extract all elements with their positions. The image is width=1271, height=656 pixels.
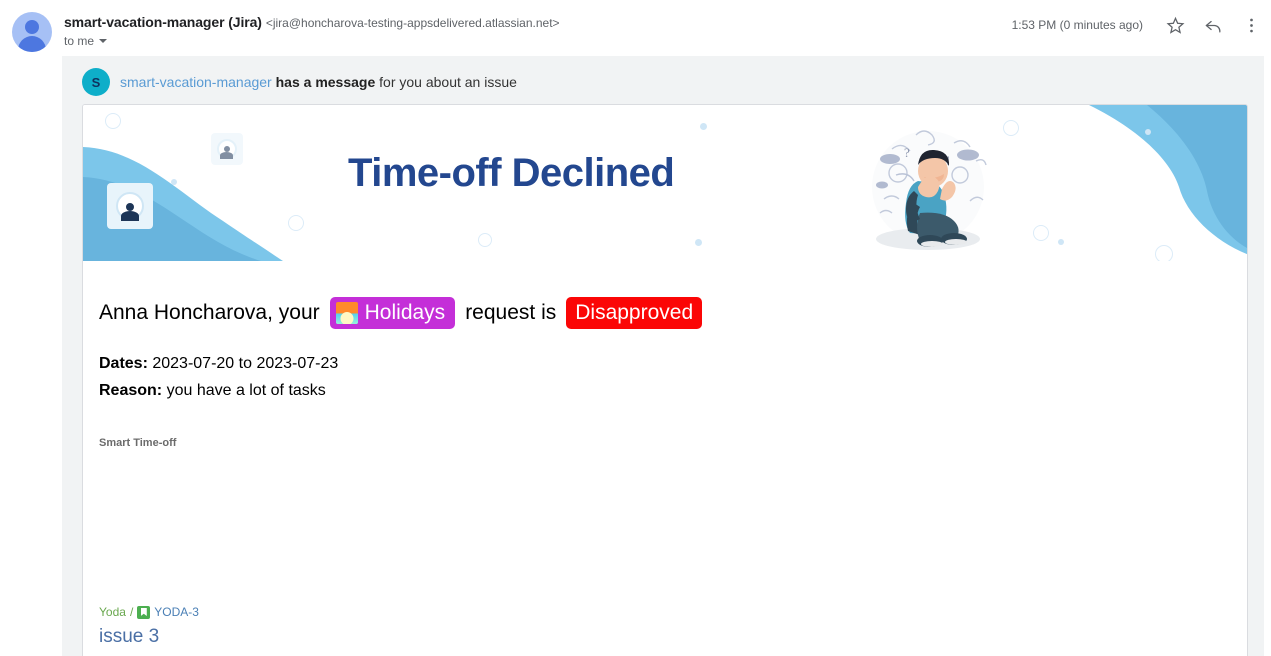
status-badge-label: Disapproved	[575, 301, 693, 325]
dates-label: Dates:	[99, 355, 148, 372]
calendar-clock-icon	[107, 183, 153, 229]
dot-decoration	[695, 239, 702, 246]
message-timestamp: 1:53 PM (0 minutes ago)	[1012, 18, 1143, 32]
reason-row: Reason: you have a lot of tasks	[99, 382, 326, 400]
recipient-label: to me	[64, 34, 94, 48]
jira-app-avatar: S	[82, 68, 110, 96]
email-banner: ?!	[83, 105, 1248, 261]
svg-text:?: ?	[904, 145, 910, 160]
banner-title: Time-off Declined	[348, 151, 674, 196]
greeting-text: Anna Honcharova, your	[99, 301, 320, 325]
wave-right-decoration	[1029, 105, 1248, 261]
jira-notice: S smart-vacation-manager has a message f…	[82, 68, 517, 96]
sunrise-icon	[336, 302, 358, 324]
dot-decoration	[1058, 239, 1064, 245]
person-avatar-icon[interactable]	[12, 12, 52, 52]
dot-decoration	[1145, 129, 1151, 135]
sender-name[interactable]: smart-vacation-manager (Jira)	[64, 14, 262, 30]
signature-text: Smart Time-off	[99, 437, 176, 449]
jira-notice-bold: has a message	[276, 74, 376, 90]
dates-row: Dates: 2023-07-20 to 2023-07-23	[99, 355, 338, 373]
request-type-label: Holidays	[365, 301, 446, 325]
message-background: S smart-vacation-manager has a message f…	[62, 56, 1264, 656]
breadcrumb-separator: /	[130, 605, 133, 619]
ring-decoration	[288, 215, 304, 231]
breadcrumb: Yoda / YODA-3	[99, 605, 199, 619]
jira-app-link[interactable]: smart-vacation-manager	[120, 74, 272, 90]
ring-decoration	[1155, 245, 1173, 261]
story-icon	[137, 606, 150, 619]
dates-value: 2023-07-20 to 2023-07-23	[152, 355, 338, 372]
calendar-clock-icon	[211, 133, 243, 165]
sad-person-illustration: ?!	[858, 115, 998, 255]
reason-value: you have a lot of tasks	[167, 382, 326, 399]
avatar-head	[25, 20, 39, 34]
header-actions: 1:53 PM (0 minutes ago)	[1012, 13, 1263, 37]
email-card: ?!	[82, 104, 1248, 656]
email-view: smart-vacation-manager (Jira)<jira@honch…	[0, 0, 1271, 656]
status-message-line: Anna Honcharova, your Holidays request i…	[99, 297, 702, 329]
request-type-badge: Holidays	[330, 297, 456, 329]
message-header: smart-vacation-manager (Jira)<jira@honch…	[0, 0, 1271, 56]
message-body: S smart-vacation-manager has a message f…	[0, 56, 1264, 656]
reply-icon[interactable]	[1201, 13, 1225, 37]
breadcrumb-project[interactable]: Yoda	[99, 605, 126, 619]
more-vertical-icon[interactable]	[1239, 13, 1263, 37]
reason-label: Reason:	[99, 382, 162, 399]
scrollbar-gutter[interactable]	[1264, 0, 1271, 656]
avatar-body	[18, 36, 46, 52]
star-icon[interactable]	[1163, 13, 1187, 37]
middle-text: request is	[465, 301, 556, 325]
dot-decoration	[700, 123, 707, 130]
sender-line: smart-vacation-manager (Jira)<jira@honch…	[64, 14, 560, 32]
ring-decoration	[1003, 120, 1019, 136]
breadcrumb-issue-key[interactable]: YODA-3	[154, 605, 199, 619]
ring-decoration	[105, 113, 121, 129]
issue-summary[interactable]: issue 3	[99, 626, 159, 648]
jira-notice-tail: for you about an issue	[379, 74, 517, 90]
ring-decoration	[1033, 225, 1049, 241]
sender-email: <jira@honcharova-testing-appsdelivered.a…	[266, 16, 560, 30]
chevron-down-icon[interactable]	[99, 39, 107, 43]
status-badge: Disapproved	[566, 297, 702, 329]
recipient-row[interactable]: to me	[64, 34, 107, 48]
ring-decoration	[478, 233, 492, 247]
dot-decoration	[171, 179, 177, 185]
jira-notice-text: smart-vacation-manager has a message for…	[120, 74, 517, 90]
